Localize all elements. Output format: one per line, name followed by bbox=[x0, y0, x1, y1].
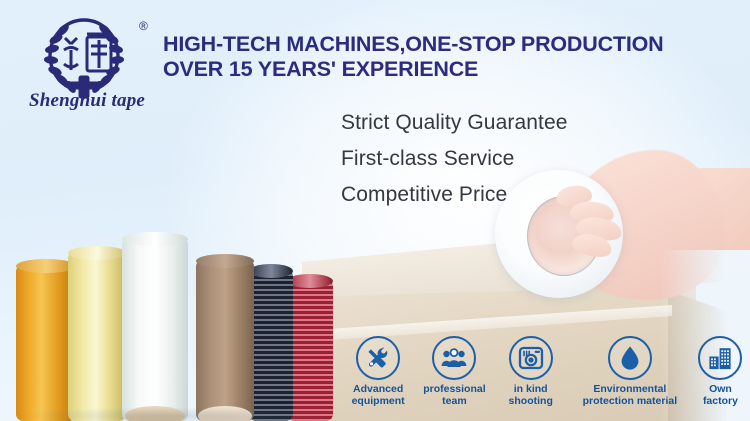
roll-cap bbox=[249, 264, 293, 278]
feature-badges: Advanced equipment bbox=[340, 336, 750, 418]
feature-label-line-2: shooting bbox=[509, 396, 553, 408]
feature-icon-ring bbox=[509, 336, 553, 380]
roll-cap bbox=[68, 246, 126, 260]
feature-icon-ring bbox=[608, 336, 652, 380]
roll-cap bbox=[196, 254, 254, 268]
feature-label-line-1: in kind bbox=[509, 384, 553, 396]
red-striped-tape-roll bbox=[287, 281, 333, 421]
feature-label: professional team bbox=[423, 384, 485, 407]
people-team-icon bbox=[441, 346, 467, 370]
water-droplet-icon bbox=[619, 345, 641, 371]
black-striped-tape-roll bbox=[249, 271, 293, 421]
feature-environmental-protection-material[interactable]: Environmental protection material bbox=[569, 336, 691, 407]
headline-line-2: OVER 15 YEARS' EXPERIENCE bbox=[163, 57, 743, 82]
feature-label-line-2: factory bbox=[703, 396, 738, 408]
benefits-list: Strict Quality Guarantee First-class Ser… bbox=[341, 105, 671, 213]
orange-tape-roll bbox=[16, 266, 76, 421]
brand-name-text: Shenghui tape bbox=[14, 90, 160, 112]
feature-label-line-2: team bbox=[423, 396, 485, 408]
roll-cap bbox=[287, 274, 333, 288]
camera-icon bbox=[518, 345, 544, 371]
feature-label-line-1: Environmental bbox=[583, 384, 678, 396]
feature-label-line-1: professional bbox=[423, 384, 485, 396]
brown-tape-roll bbox=[196, 261, 254, 421]
headline: HIGH-TECH MACHINES,ONE-STOP PRODUCTION O… bbox=[163, 32, 743, 82]
feature-label-line-2: protection material bbox=[583, 396, 678, 408]
jumbo-tape-rolls-group bbox=[0, 190, 340, 421]
feature-advanced-equipment[interactable]: Advanced equipment bbox=[340, 336, 416, 407]
wrench-screwdriver-icon bbox=[365, 345, 391, 371]
feature-label-line-1: Own bbox=[703, 384, 738, 396]
rolls-ground-shadow bbox=[6, 407, 336, 421]
feature-label: Environmental protection material bbox=[583, 384, 678, 407]
feature-own-factory[interactable]: Own factory bbox=[691, 336, 750, 407]
buildings-factory-icon bbox=[707, 346, 733, 371]
benefit-item: Strict Quality Guarantee bbox=[341, 105, 671, 141]
feature-label: Own factory bbox=[703, 384, 738, 407]
feature-label-line-1: Advanced bbox=[352, 384, 405, 396]
benefit-item: First-class Service bbox=[341, 141, 671, 177]
feature-icon-ring bbox=[432, 336, 476, 380]
clear-tape-roll bbox=[122, 239, 188, 421]
yellow-tape-roll bbox=[68, 253, 126, 421]
roll-cap bbox=[16, 259, 76, 273]
roll-cap bbox=[122, 232, 188, 246]
feature-label-line-2: equipment bbox=[352, 396, 405, 408]
feature-professional-team[interactable]: professional team bbox=[416, 336, 492, 407]
headline-line-1: HIGH-TECH MACHINES,ONE-STOP PRODUCTION bbox=[163, 32, 663, 56]
registered-trademark-mark: ® bbox=[139, 19, 148, 33]
feature-label: in kind shooting bbox=[509, 384, 553, 407]
feature-icon-ring bbox=[356, 336, 400, 380]
promo-banner: ® Shenghui tape HIGH-TECH MACHINES,ONE-S… bbox=[0, 0, 750, 421]
benefit-item: Competitive Price bbox=[341, 177, 671, 213]
feature-in-kind-shooting[interactable]: in kind shooting bbox=[493, 336, 569, 407]
brand-logo[interactable]: ® Shenghui tape bbox=[8, 6, 160, 118]
feature-icon-ring bbox=[698, 336, 742, 380]
feature-label: Advanced equipment bbox=[352, 384, 405, 407]
